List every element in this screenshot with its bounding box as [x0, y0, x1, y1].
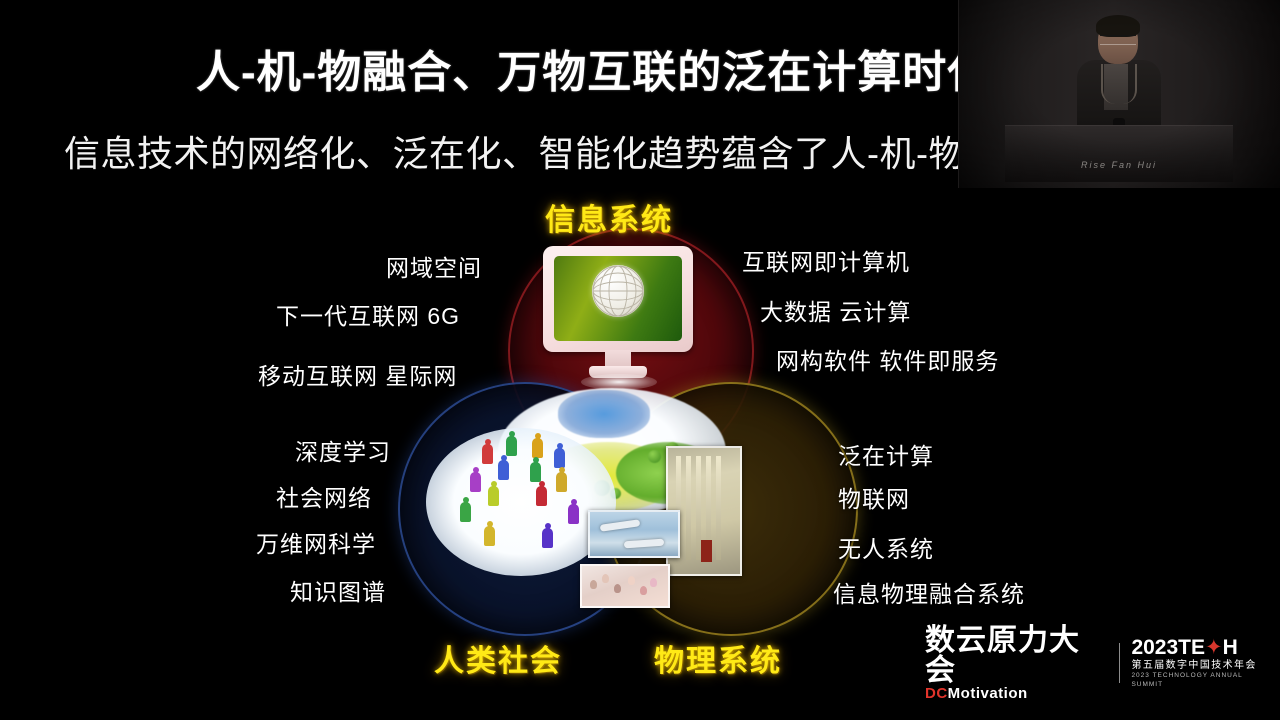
monitor-screen: [554, 256, 682, 341]
keyword-top-left-1: 网域空间: [386, 249, 482, 283]
keyword-bottom-right-1: 泛在计算: [838, 437, 934, 471]
speaker-hair: [1096, 15, 1140, 37]
person-icon: [498, 460, 509, 480]
keyword-top-right-1: 互联网即计算机: [742, 243, 910, 277]
person-icon: [556, 472, 567, 492]
monitor-glow: [581, 374, 657, 390]
tech-summit-en: 2023 TECHNOLOGY ANNUAL SUMMIT: [1131, 672, 1275, 689]
globe-icon: [592, 265, 644, 317]
keyword-bottom-left-4: 知识图谱: [290, 573, 386, 607]
person-icon: [488, 486, 499, 506]
venn-diagram: [398, 228, 854, 648]
tech-summit-logo: 2023TE✦H 第五届数字中国技术年会 2023 TECHNOLOGY ANN…: [1131, 637, 1275, 689]
tech-summit-word-tail: H: [1223, 636, 1238, 659]
keyword-bottom-right-2: 物联网: [838, 480, 910, 514]
logo-divider: [1119, 643, 1120, 683]
crowd-photo: [580, 564, 670, 608]
keyword-top-left-2: 下一代互联网 6G: [276, 297, 460, 331]
tech-summit-wordmark: 2023TE✦H: [1131, 637, 1275, 659]
keyword-top-right-2: 大数据 云计算: [760, 293, 911, 327]
person-icon: [554, 448, 565, 468]
tech-summit-year: 2023: [1131, 636, 1178, 659]
page-subtitle: 信息技术的网络化、泛在化、智能化趋势蕴含了人-机-物: [64, 125, 1064, 177]
person-icon: [532, 438, 543, 458]
keyword-bottom-right-4: 信息物理融合系统: [833, 575, 1025, 609]
speaker-lanyard: [1101, 64, 1137, 104]
venn-label-physical-system: 物理系统: [654, 636, 782, 680]
keyword-bottom-right-3: 无人系统: [838, 530, 934, 564]
person-icon: [484, 526, 495, 546]
keyword-bottom-left-1: 深度学习: [295, 433, 391, 467]
speaker-glasses-icon: [1100, 35, 1136, 45]
person-icon: [506, 436, 517, 456]
person-icon: [568, 504, 579, 524]
shuyun-logo-motivation: Motivation: [948, 685, 1028, 702]
venn-label-human-society: 人类社会: [434, 636, 562, 680]
page-title: 人-机-物融合、万物互联的泛在计算时代: [196, 36, 1016, 100]
venn-label-information-system: 信息系统: [545, 195, 673, 239]
keyword-top-right-3: 网构软件 软件即服务: [776, 342, 999, 376]
tree-icon: [648, 450, 661, 463]
person-icon: [542, 528, 553, 548]
monitor-body: [543, 246, 693, 352]
shuyun-logo-dc: DC: [925, 685, 948, 702]
slide-canvas: 人-机-物融合、万物互联的泛在计算时代 信息技术的网络化、泛在化、智能化趋势蕴含…: [0, 0, 1280, 720]
aircraft-photo: [588, 510, 680, 558]
tech-summit-word: TE: [1178, 636, 1205, 659]
podium: Rise Fan Hui: [1005, 125, 1233, 182]
blob-water-icon: [558, 390, 650, 438]
tech-summit-cn: 第五届数字中国技术年会: [1131, 659, 1275, 672]
shuyun-logo: 数云原力大会 DCMotivation: [925, 626, 1108, 701]
shuyun-logo-cn: 数云原力大会: [925, 626, 1108, 686]
person-icon: [536, 486, 547, 506]
person-icon: [530, 462, 541, 482]
podium-caption: Rise Fan Hui: [1005, 160, 1233, 170]
person-icon: [470, 472, 481, 492]
tech-summit-flame-icon: ✦: [1205, 636, 1223, 659]
keyword-bottom-left-3: 万维网科学: [256, 525, 376, 559]
person-icon: [460, 502, 471, 522]
conference-logo-bar: 数云原力大会 DCMotivation 2023TE✦H 第五届数字中国技术年会…: [925, 632, 1275, 694]
shuyun-logo-sub: DCMotivation: [925, 686, 1108, 701]
computer-monitor-icon: [543, 246, 693, 382]
keyword-top-left-3: 移动互联网 星际网: [258, 357, 457, 391]
person-icon: [482, 444, 493, 464]
keyword-bottom-left-2: 社会网络: [276, 479, 372, 513]
speaker-video-overlay[interactable]: Rise Fan Hui: [958, 0, 1280, 188]
